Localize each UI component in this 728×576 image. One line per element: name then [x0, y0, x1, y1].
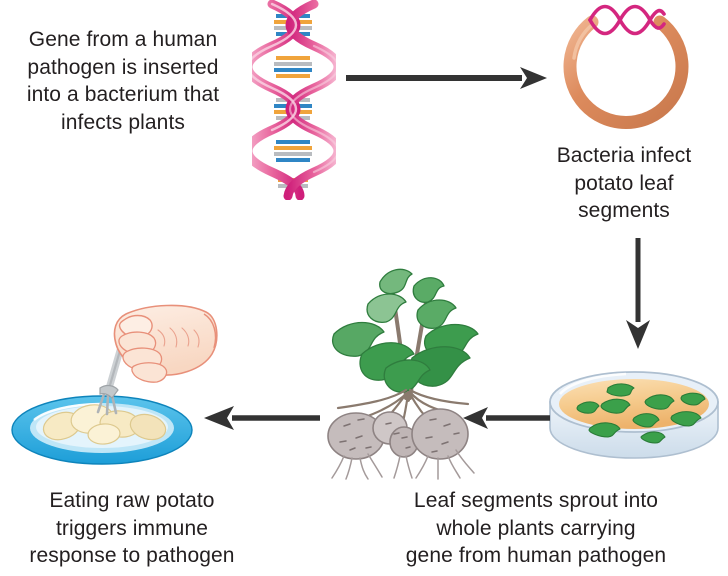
- plasmid-ring-illustration: [552, 0, 700, 138]
- arrow-gene-to-bacterium: [344, 60, 548, 96]
- arrow-plant-to-meal: [202, 400, 322, 436]
- caption-bacteria-infect: Bacteria infect potato leaf segments: [520, 142, 728, 225]
- caption-eating-potato: Eating raw potato triggers immune respon…: [0, 487, 264, 570]
- potato-tubers: [328, 409, 468, 459]
- hand: [114, 305, 216, 382]
- plasmid-backbone: [570, 22, 682, 122]
- caption-leaf-sprout: Leaf segments sprout into whole plants c…: [344, 487, 728, 570]
- dna-backbone-strands: [252, 4, 336, 196]
- plant-leaves: [333, 269, 478, 392]
- potato-plant-illustration: [318, 258, 504, 480]
- dna-double-helix-illustration: [252, 0, 336, 200]
- inserted-human-gene: [590, 7, 664, 34]
- biotech-process-diagram: Gene from a human pathogen is inserted i…: [0, 0, 728, 576]
- petri-dish-illustration: [546, 344, 722, 476]
- caption-gene-insertion: Gene from a human pathogen is inserted i…: [0, 26, 246, 137]
- hand-fork-plate-illustration: [8, 300, 220, 480]
- arrow-bacterium-to-dish: [618, 238, 658, 350]
